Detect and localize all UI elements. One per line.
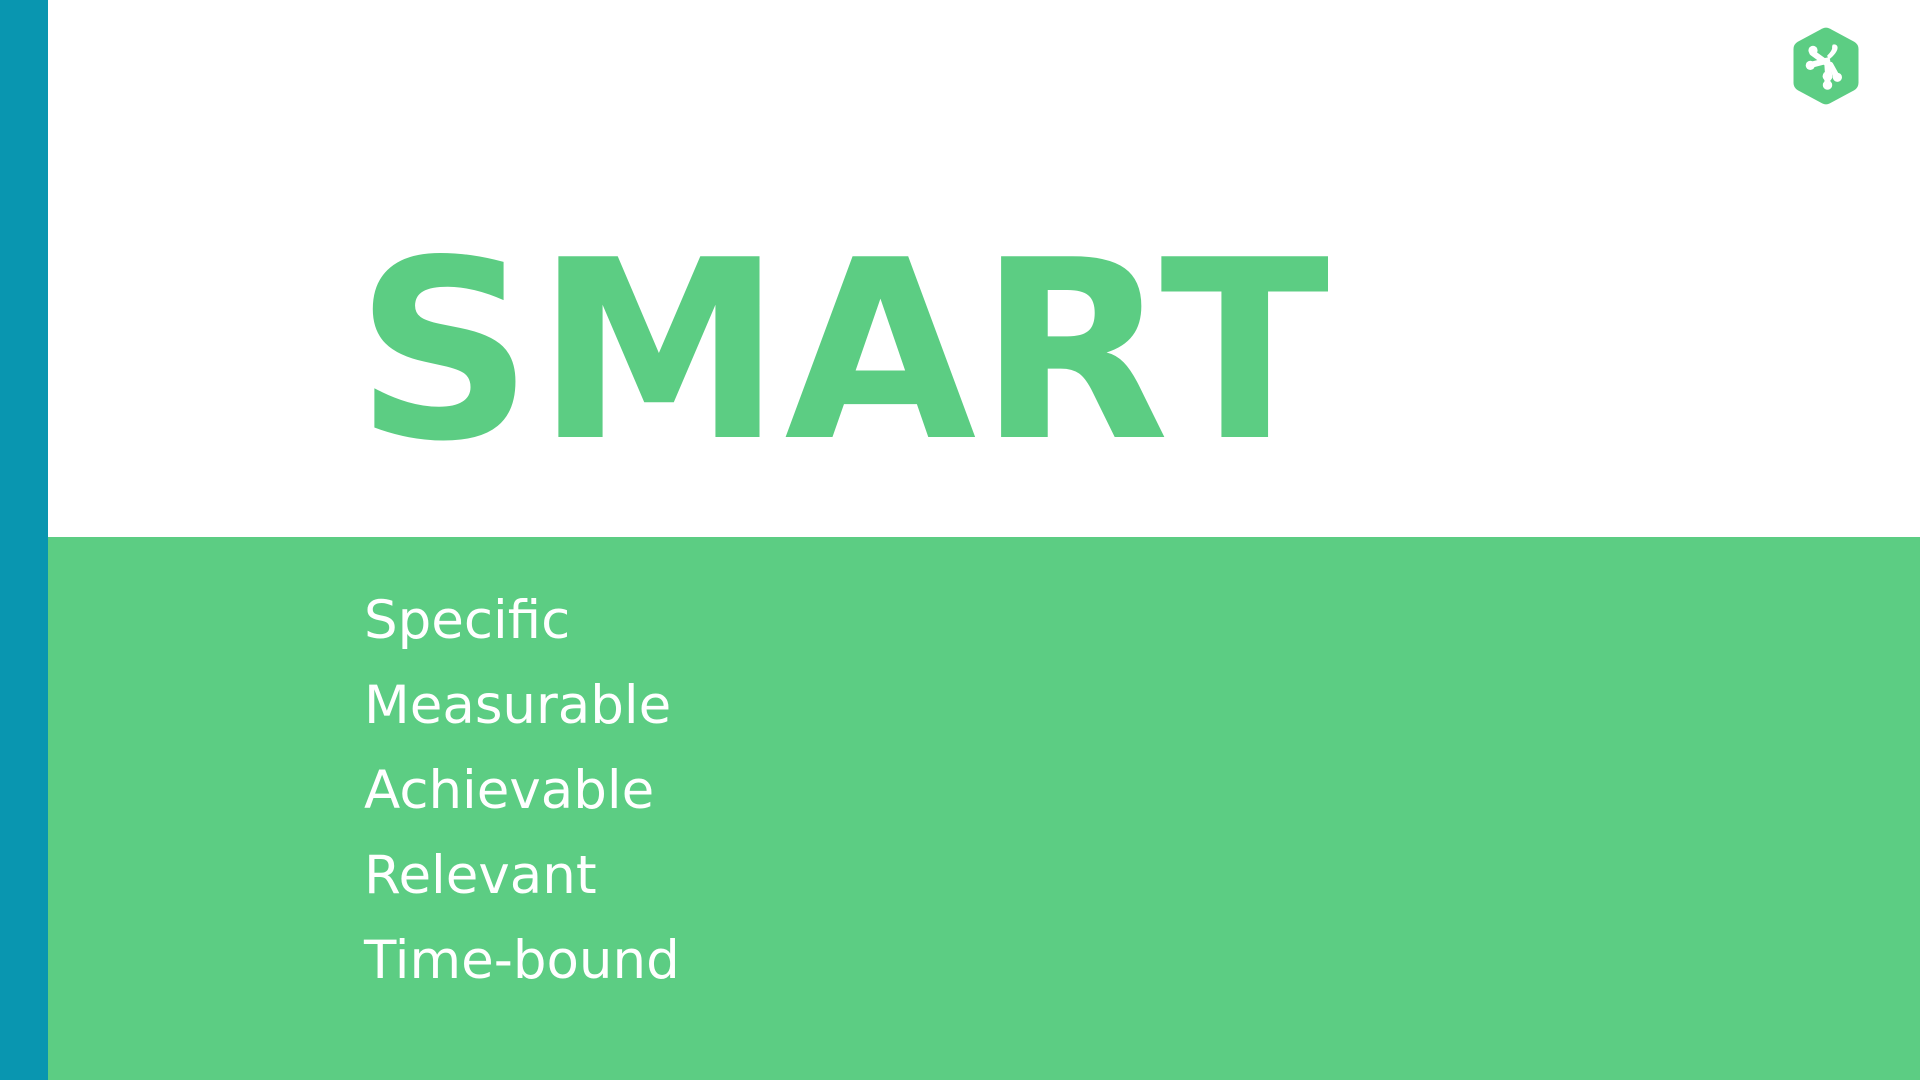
- list-item: Specific: [364, 578, 680, 663]
- content-panel: [48, 537, 1920, 1080]
- treehouse-logo-icon: [1788, 26, 1864, 106]
- list-item: Measurable: [364, 663, 680, 748]
- list-item: Time-bound: [364, 918, 680, 1003]
- list-item: Relevant: [364, 833, 680, 918]
- slide-canvas: SMART Specific Measurable Achievable Rel…: [0, 0, 1920, 1080]
- list-item: Achievable: [364, 748, 680, 833]
- smart-criteria-list: Specific Measurable Achievable Relevant …: [364, 578, 680, 1003]
- page-title: SMART: [355, 228, 1331, 476]
- left-accent-bar: [0, 0, 48, 1080]
